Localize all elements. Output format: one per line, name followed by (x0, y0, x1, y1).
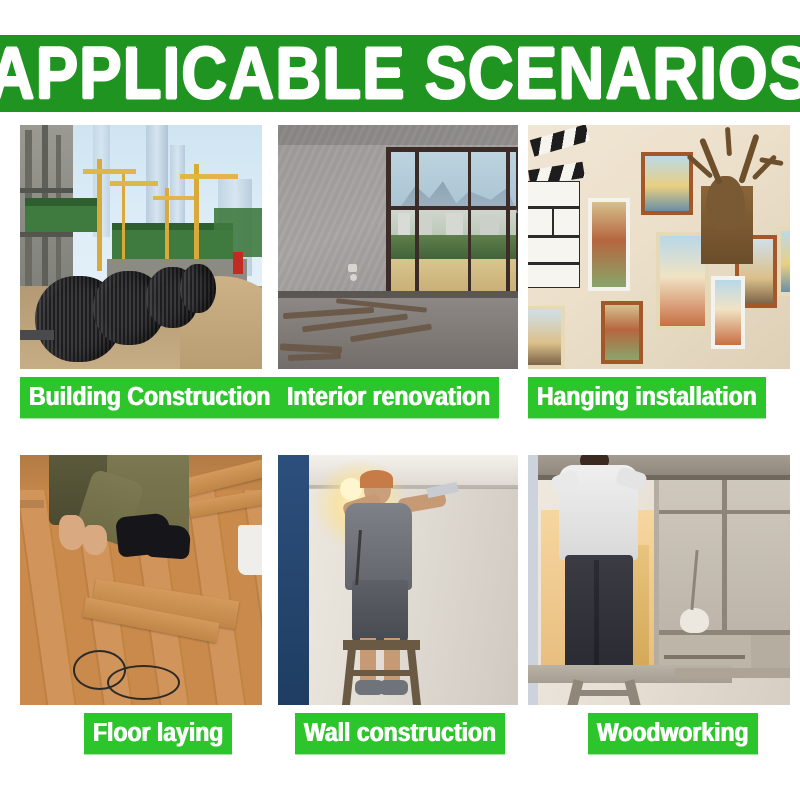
caption-wrap-interior-renovation: Interior renovation (278, 377, 518, 414)
page-title: APPLICABLE SCENARIOS (0, 37, 800, 110)
header-banner: APPLICABLE SCENARIOS (0, 35, 800, 112)
applicable-scenarios-page: APPLICABLE SCENARIOS (0, 0, 800, 800)
caption-wrap-wall-construction: Wall construction (278, 713, 518, 750)
scenario-caption-floor-laying: Floor laying (84, 713, 232, 754)
scenario-caption-hanging-installation: Hanging installation (528, 377, 766, 418)
scenario-photo-building-construction (20, 125, 262, 369)
scenario-photo-hanging-installation (528, 125, 790, 369)
caption-wrap-hanging-installation: Hanging installation (528, 377, 790, 414)
scenario-photo-wall-construction (278, 455, 518, 705)
scenario-photo-woodworking (528, 455, 790, 705)
scenario-photo-floor-laying (20, 455, 262, 705)
caption-wrap-woodworking: Woodworking (528, 713, 790, 750)
caption-wrap-floor-laying: Floor laying (20, 713, 262, 750)
scenario-photo-interior-renovation (278, 125, 518, 369)
scenario-caption-wall-construction: Wall construction (295, 713, 505, 754)
caption-wrap-building-construction: Building Construction (20, 377, 262, 414)
scenario-caption-interior-renovation: Interior renovation (278, 377, 499, 418)
scenario-caption-woodworking: Woodworking (588, 713, 758, 754)
scenario-grid: Building Construction (0, 125, 800, 785)
scenario-caption-building-construction: Building Construction (20, 377, 279, 418)
